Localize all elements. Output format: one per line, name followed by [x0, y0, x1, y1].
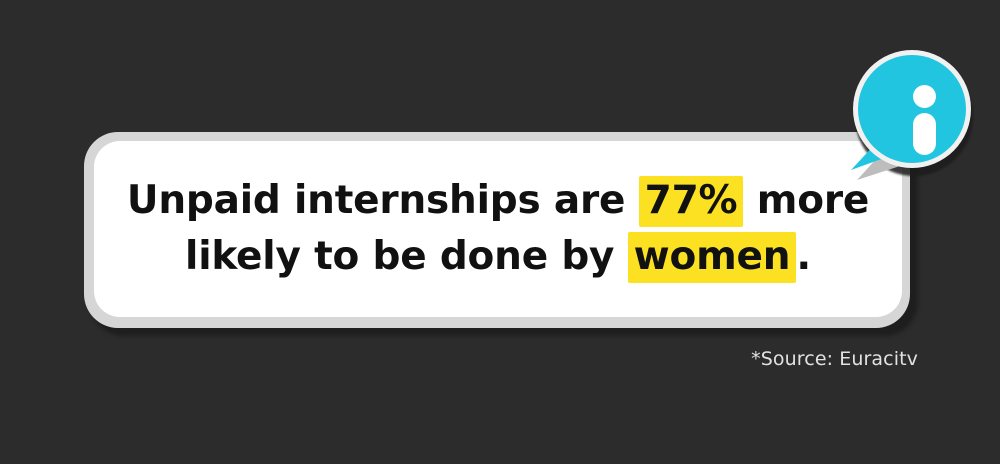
headline-line-2: likely to be done by women. [94, 229, 902, 285]
infographic-canvas: Unpaid internships are 77% more likely t… [0, 0, 1000, 464]
headline-highlight-percent: 77% [639, 176, 744, 227]
headline-line-1-text-before: Unpaid internships are [127, 178, 639, 223]
headline: Unpaid internships are 77% more likely t… [94, 173, 902, 285]
headline-line-2-text-before: likely to be done by [185, 234, 628, 279]
headline-highlight-women: women [628, 232, 797, 283]
headline-line-1: Unpaid internships are 77% more [94, 173, 902, 229]
info-icon [858, 55, 966, 163]
info-icon-stem [913, 113, 936, 155]
statistic-card: Unpaid internships are 77% more likely t… [94, 141, 902, 317]
headline-line-1-text-after: more [743, 178, 869, 223]
headline-line-2-text-after: . [796, 234, 811, 279]
info-badge [845, 48, 975, 183]
source-attribution: *Source: Euracitv [751, 348, 918, 370]
info-icon-dot [913, 85, 936, 108]
